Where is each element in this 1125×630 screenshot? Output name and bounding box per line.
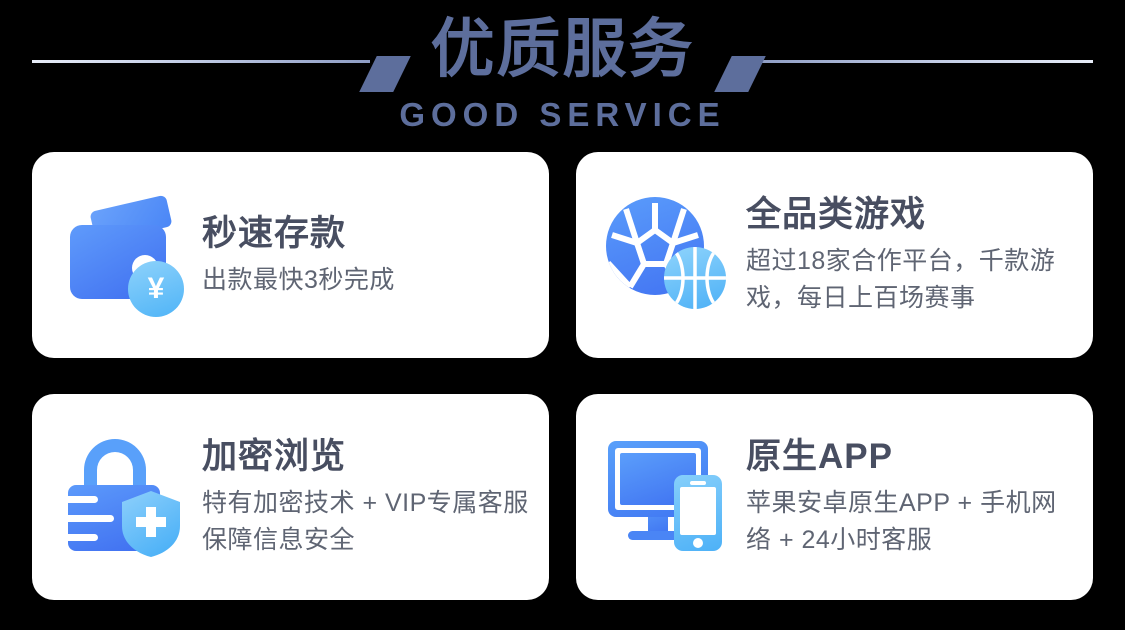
feature-card-native-app[interactable]: 原生APP 苹果安卓原生APP + 手机网络 + 24小时客服 xyxy=(576,394,1093,600)
card-title: 秒速存款 xyxy=(202,212,531,256)
card-text-block: 原生APP 苹果安卓原生APP + 手机网络 + 24小时客服 xyxy=(736,435,1075,559)
card-title: 加密浏览 xyxy=(202,435,531,479)
card-icon-slot xyxy=(604,431,736,563)
card-title: 原生APP xyxy=(746,435,1075,479)
shield-cross-icon xyxy=(120,489,182,559)
card-icon-slot: ¥ xyxy=(60,189,192,321)
monitor-phone-icon xyxy=(608,441,732,551)
card-title: 全品类游戏 xyxy=(746,193,1075,237)
wallet-yen-icon: ¥ xyxy=(66,195,186,315)
card-text-block: 全品类游戏 超过18家合作平台，千款游戏，每日上百场赛事 xyxy=(736,193,1075,317)
card-subtitle: 超过18家合作平台，千款游戏，每日上百场赛事 xyxy=(746,243,1075,317)
card-icon-slot xyxy=(604,189,736,321)
feature-card-deposit[interactable]: ¥ 秒速存款 出款最快3秒完成 xyxy=(32,152,549,358)
soccer-basketball-icon xyxy=(606,193,732,317)
lock-slot-icon xyxy=(68,496,98,503)
card-subtitle: 特有加密技术 + VIP专属客服保障信息安全 xyxy=(202,485,531,559)
page-title: 优质服务 xyxy=(0,12,1125,86)
feature-card-games[interactable]: 全品类游戏 超过18家合作平台，千款游戏，每日上百场赛事 xyxy=(576,152,1093,358)
card-subtitle: 苹果安卓原生APP + 手机网络 + 24小时客服 xyxy=(746,485,1075,559)
page-header: 优质服务 GOOD SERVICE xyxy=(0,0,1125,148)
feature-card-encryption[interactable]: 加密浏览 特有加密技术 + VIP专属客服保障信息安全 xyxy=(32,394,549,600)
lock-shield-icon xyxy=(64,437,186,557)
card-text-block: 加密浏览 特有加密技术 + VIP专属客服保障信息安全 xyxy=(192,435,531,559)
yen-coin-icon: ¥ xyxy=(128,261,184,317)
lock-slot-icon xyxy=(68,534,98,541)
basketball-icon xyxy=(664,247,726,309)
phone-screen-icon xyxy=(680,487,716,535)
lock-slot-icon xyxy=(68,515,114,522)
page-subtitle: GOOD SERVICE xyxy=(0,96,1125,134)
card-subtitle: 出款最快3秒完成 xyxy=(202,262,531,299)
card-icon-slot xyxy=(60,431,192,563)
card-text-block: 秒速存款 出款最快3秒完成 xyxy=(192,212,531,299)
phone-speaker-icon xyxy=(690,481,706,485)
feature-card-grid: ¥ 秒速存款 出款最快3秒完成 xyxy=(32,152,1093,600)
phone-icon xyxy=(674,475,722,551)
phone-home-button-icon xyxy=(693,538,703,548)
